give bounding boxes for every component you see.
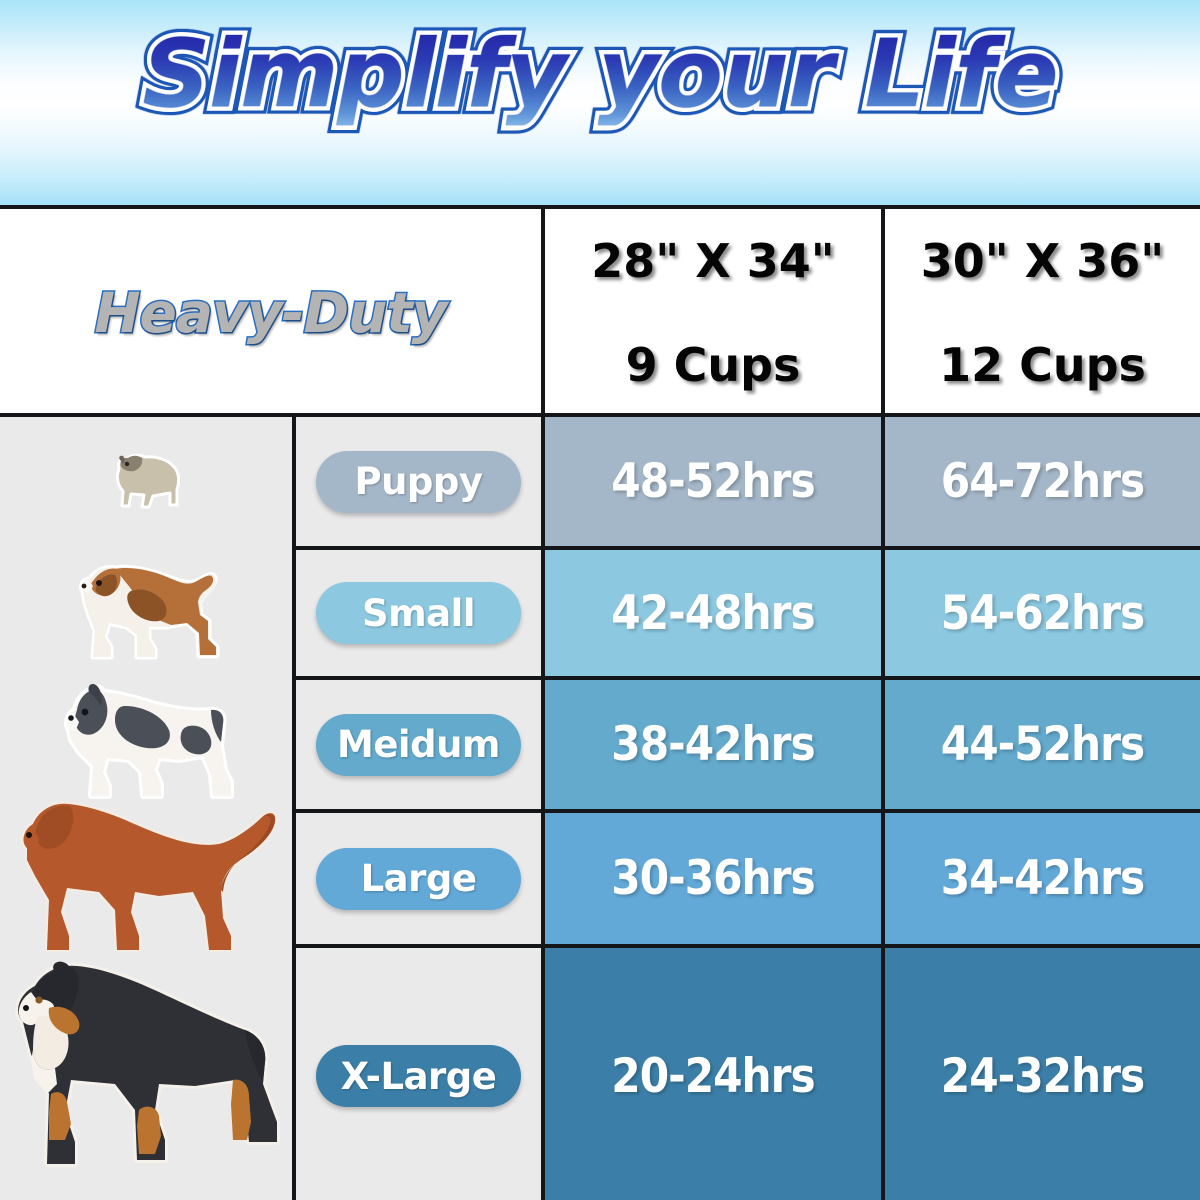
- cell-medium-col2: 44-52hrs: [885, 680, 1200, 809]
- cell-large-col2: 34-42hrs: [885, 813, 1200, 944]
- table-row[interactable]: Small 42-48hrs 54-62hrs: [296, 546, 1200, 676]
- row-label-cell: Meidum: [296, 680, 545, 809]
- cell-small-col1: 42-48hrs: [545, 550, 885, 676]
- page-title: Simplify your Life: [0, 26, 1200, 125]
- row-label-cell: X-Large: [296, 948, 545, 1200]
- size-chart-table: Heavy-Duty 28" X 34" 30" X 36" 9 Cups 12…: [0, 205, 1200, 1200]
- brand-cell: Heavy-Duty: [0, 209, 545, 417]
- size-badge-large: Large: [316, 848, 521, 910]
- table-row[interactable]: Puppy 48-52hrs 64-72hrs: [296, 417, 1200, 546]
- brand-label: Heavy-Duty: [95, 281, 447, 345]
- size-badge-small: Small: [316, 582, 521, 644]
- dog-slot-large: [0, 809, 296, 944]
- row-label-cell: Puppy: [296, 417, 545, 546]
- cell-xlarge-col1: 20-24hrs: [545, 948, 885, 1200]
- table-row[interactable]: Large 30-36hrs 34-42hrs: [296, 809, 1200, 944]
- dog-slot-puppy: [0, 417, 296, 546]
- dog-slot-medium: [0, 676, 296, 809]
- cell-xlarge-col2: 24-32hrs: [885, 948, 1200, 1200]
- column-header-cups-1: 9 Cups: [545, 313, 885, 417]
- table-row[interactable]: Meidum 38-42hrs 44-52hrs: [296, 676, 1200, 809]
- pug-icon: [105, 451, 191, 513]
- table-body: Puppy 48-52hrs 64-72hrs Small 42-48hrs 5…: [296, 417, 1200, 1200]
- size-badge-xlarge: X-Large: [316, 1045, 521, 1107]
- dog-illustration-column: [0, 417, 296, 1200]
- size-badge-puppy: Puppy: [316, 451, 521, 513]
- table-row[interactable]: X-Large 20-24hrs 24-32hrs: [296, 944, 1200, 1200]
- cell-large-col1: 30-36hrs: [545, 813, 885, 944]
- column-header-size-2: 30" X 36": [885, 209, 1200, 313]
- product-size-chart: Simplify your Life Simplify your Life Si…: [0, 0, 1200, 1200]
- bernese-mountain-dog-icon: [3, 958, 293, 1190]
- boston-terrier-icon: [59, 682, 237, 804]
- table-header: Heavy-Duty 28" X 34" 30" X 36" 9 Cups 12…: [0, 209, 1200, 417]
- column-header-cups-2: 12 Cups: [885, 313, 1200, 417]
- cell-medium-col1: 38-42hrs: [545, 680, 885, 809]
- cell-small-col2: 54-62hrs: [885, 550, 1200, 676]
- golden-retriever-icon: [12, 795, 284, 958]
- banner: Simplify your Life Simplify your Life Si…: [0, 0, 1200, 205]
- cell-puppy-col2: 64-72hrs: [885, 417, 1200, 546]
- dog-slot-xlarge: [0, 944, 296, 1200]
- row-label-cell: Small: [296, 550, 545, 676]
- beagle-icon: [72, 558, 224, 664]
- row-label-cell: Large: [296, 813, 545, 944]
- column-header-size-1: 28" X 34": [545, 209, 885, 313]
- dog-slot-small: [0, 546, 296, 676]
- size-badge-medium: Meidum: [316, 714, 521, 776]
- cell-puppy-col1: 48-52hrs: [545, 417, 885, 546]
